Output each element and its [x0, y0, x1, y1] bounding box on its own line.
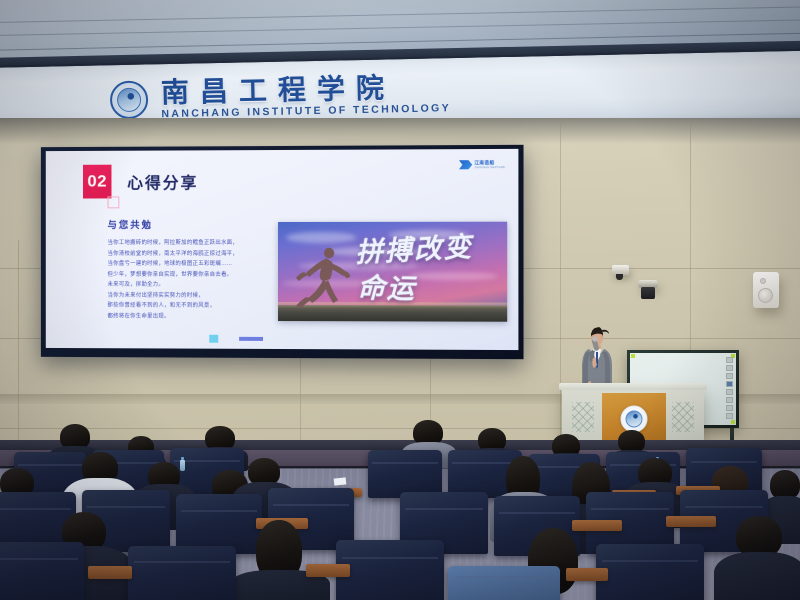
seat[interactable] — [596, 544, 704, 600]
seat[interactable] — [448, 566, 560, 600]
runner-silhouette-icon — [296, 246, 350, 308]
seat[interactable] — [0, 542, 84, 600]
seat-armrest — [88, 566, 132, 579]
company-logo-icon — [459, 160, 472, 169]
whiteboard-button[interactable] — [726, 357, 733, 363]
slide-decoration-square — [209, 335, 218, 343]
slide-section-number: 02 — [87, 172, 107, 192]
company-name-english: JIANGNAN SHIPYARD — [474, 166, 505, 169]
slide-body-line: 未来可及，拼助全力。 — [108, 280, 281, 291]
slide-decoration-bar — [239, 337, 263, 341]
whiteboard-button[interactable] — [726, 373, 733, 379]
seat[interactable] — [368, 450, 442, 498]
slide-body-line: 当你工地搬砖的时候，阿拉斯加的鳕鱼正跃出水面， — [108, 238, 281, 249]
seat-armrest — [666, 516, 716, 527]
lectern-panel-pattern — [672, 402, 694, 432]
wall-tile-seam — [560, 118, 561, 448]
whiteboard-control-panel[interactable] — [725, 357, 734, 427]
nanchang-institute-emblem-icon — [110, 80, 149, 119]
calligraphy-line-1: 拼搏改变 — [355, 232, 474, 269]
slide-image-calligraphy: 拼搏改变命运 — [355, 232, 507, 294]
seat-armrest — [572, 520, 622, 531]
calligraphy-line-2: 命运 — [357, 275, 416, 303]
auditorium-photo: 南昌工程学院 NANCHANG INSTITUTE OF TECHNOLOGY … — [0, 0, 800, 600]
slide-body-line: 都终将在你生命里出现。 — [108, 311, 281, 322]
lectern-panel-pattern — [572, 402, 594, 432]
projection-screen[interactable]: 02 心得分享 江南造船 JIANGNAN SHIPYARD 与您共勉 当你工地… — [41, 145, 524, 359]
audience-body — [714, 552, 800, 600]
slide-section-badge: 02 — [83, 165, 111, 199]
wall-tile-seam — [18, 240, 19, 448]
seat[interactable] — [176, 494, 262, 554]
seat[interactable] — [128, 546, 236, 600]
whiteboard-button[interactable] — [726, 389, 733, 395]
wall-camera-icon — [612, 265, 629, 275]
water-bottle — [180, 460, 185, 471]
seat[interactable] — [336, 540, 444, 600]
slide-body-line: 那些你曾经看不到的人，和无不到的风景， — [108, 301, 281, 312]
handout-paper — [334, 477, 347, 485]
screen-indicator — [52, 342, 60, 346]
school-seal-icon — [621, 406, 648, 433]
whiteboard-button[interactable] — [726, 405, 733, 411]
wall-tile-seam — [300, 358, 301, 448]
slide-title: 心得分享 — [127, 169, 198, 193]
seat-armrest — [566, 568, 608, 581]
slide-body-line: 当你盘亏一建的时候，地球的极图正五彩斑斓…… — [108, 259, 281, 270]
ceiling-seam — [0, 6, 800, 24]
venue-name-chinese: 南昌工程学院 — [161, 72, 451, 107]
wall-upper-shadow — [0, 118, 800, 144]
stage-edge — [0, 440, 800, 450]
whiteboard-button[interactable] — [726, 397, 733, 403]
whiteboard-button[interactable] — [726, 413, 733, 419]
slide-body-line: 当你为未来付出坚持实实努力的时候， — [108, 290, 281, 301]
ceiling-seam — [0, 19, 800, 37]
wall-speaker-icon — [753, 272, 779, 308]
seat-armrest — [306, 564, 350, 577]
slide-corner-logo: 江南造船 JIANGNAN SHIPYARD — [459, 160, 505, 169]
slide-subtitle: 与您共勉 — [108, 217, 153, 231]
wall-camera-icon — [638, 280, 658, 288]
slide-image-runner-sunset: 拼搏改变命运 — [278, 222, 507, 322]
slide-body-text: 当你工地搬砖的时候，阿拉斯加的鳕鱼正跃出水面， 当你清校前堂的时候，南太平洋的海… — [108, 238, 281, 322]
slide-body-line: 但少年，梦想要你亲自实现，世界要你亲自去看。 — [108, 269, 281, 280]
whiteboard-button[interactable] — [726, 365, 733, 371]
slide-surface: 02 心得分享 江南造船 JIANGNAN SHIPYARD 与您共勉 当你工地… — [46, 149, 519, 350]
slide-body-line: 当你清校前堂的时候，南太平洋的海鸥正掠过海平， — [108, 249, 281, 260]
whiteboard-button-active[interactable] — [726, 381, 733, 387]
